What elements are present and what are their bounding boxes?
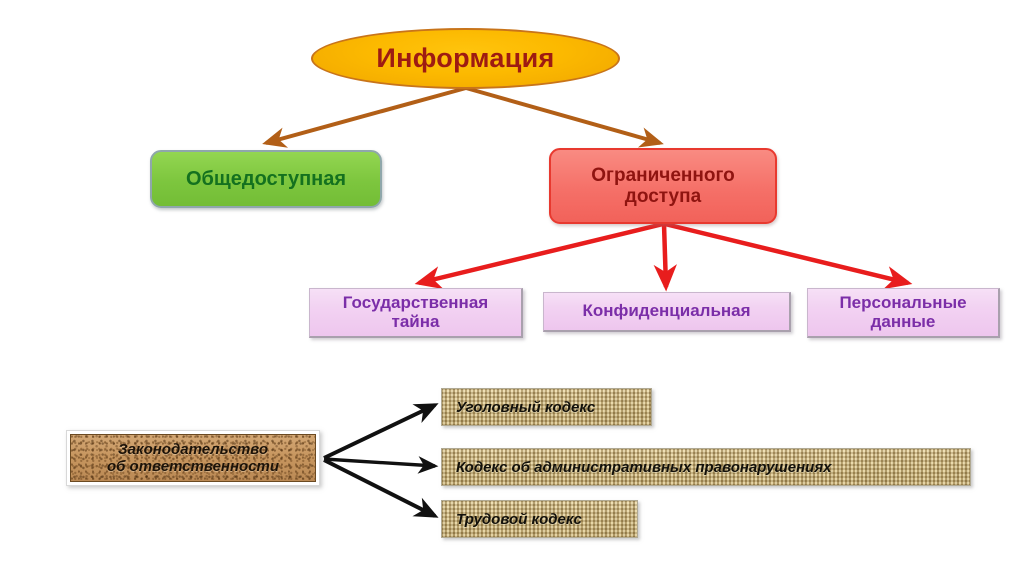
- arrow-info-to-restricted: [466, 88, 660, 143]
- node-personal-data-line1: Персональные: [839, 293, 966, 312]
- node-state-secret-line2: тайна: [392, 312, 440, 331]
- node-personal-data-label: Персональные данные: [839, 294, 966, 331]
- arrow-legislation-to-labour-code: [324, 460, 435, 516]
- node-criminal-code-label: Уголовный кодекс: [442, 399, 595, 416]
- arrow-restricted-to-personal-data: [665, 224, 908, 283]
- node-personal-data[interactable]: Персональные данные: [807, 288, 1000, 338]
- node-legislation-responsibility-label: Законодательство об ответственности: [107, 441, 279, 476]
- node-administrative-offences-code[interactable]: Кодекс об административных правонарушени…: [441, 448, 971, 486]
- node-publicly-available-label: Общедоступная: [186, 168, 346, 191]
- arrow-legislation-to-administrative-code: [324, 459, 435, 466]
- node-information[interactable]: Информация: [311, 28, 620, 89]
- node-legislation-responsibility[interactable]: Законодательство об ответственности: [66, 430, 320, 486]
- node-restricted-access-line1: Ограниченного: [591, 165, 734, 186]
- node-confidential[interactable]: Конфиденциальная: [543, 292, 791, 332]
- node-legislation-line2: об ответственности: [107, 458, 279, 475]
- node-criminal-code[interactable]: Уголовный кодекс: [441, 388, 652, 426]
- node-restricted-access-line2: доступа: [625, 186, 701, 207]
- node-personal-data-line2: данные: [871, 312, 936, 331]
- node-state-secret[interactable]: Государственная тайна: [309, 288, 523, 338]
- arrow-legislation-to-criminal-code: [324, 405, 435, 458]
- node-restricted-access-label: Ограниченного доступа: [591, 165, 734, 208]
- arrow-restricted-to-confidential: [664, 224, 666, 287]
- node-confidential-label: Конфиденциальная: [582, 302, 750, 321]
- node-labour-code[interactable]: Трудовой кодекс: [441, 500, 638, 538]
- node-legislation-line1: Законодательство: [118, 441, 268, 458]
- diagram-canvas: Информация Общедоступная Ограниченного д…: [0, 0, 1024, 573]
- node-administrative-offences-code-label: Кодекс об административных правонарушени…: [442, 459, 832, 476]
- node-state-secret-label: Государственная тайна: [343, 294, 488, 331]
- node-restricted-access[interactable]: Ограниченного доступа: [549, 148, 777, 224]
- node-publicly-available[interactable]: Общедоступная: [150, 150, 382, 208]
- arrow-restricted-to-state-secret: [419, 224, 663, 283]
- arrow-info-to-public: [266, 88, 466, 143]
- node-labour-code-label: Трудовой кодекс: [442, 511, 582, 528]
- node-state-secret-line1: Государственная: [343, 293, 488, 312]
- node-information-label: Информация: [376, 43, 554, 74]
- cork-texture: Законодательство об ответственности: [70, 434, 316, 482]
